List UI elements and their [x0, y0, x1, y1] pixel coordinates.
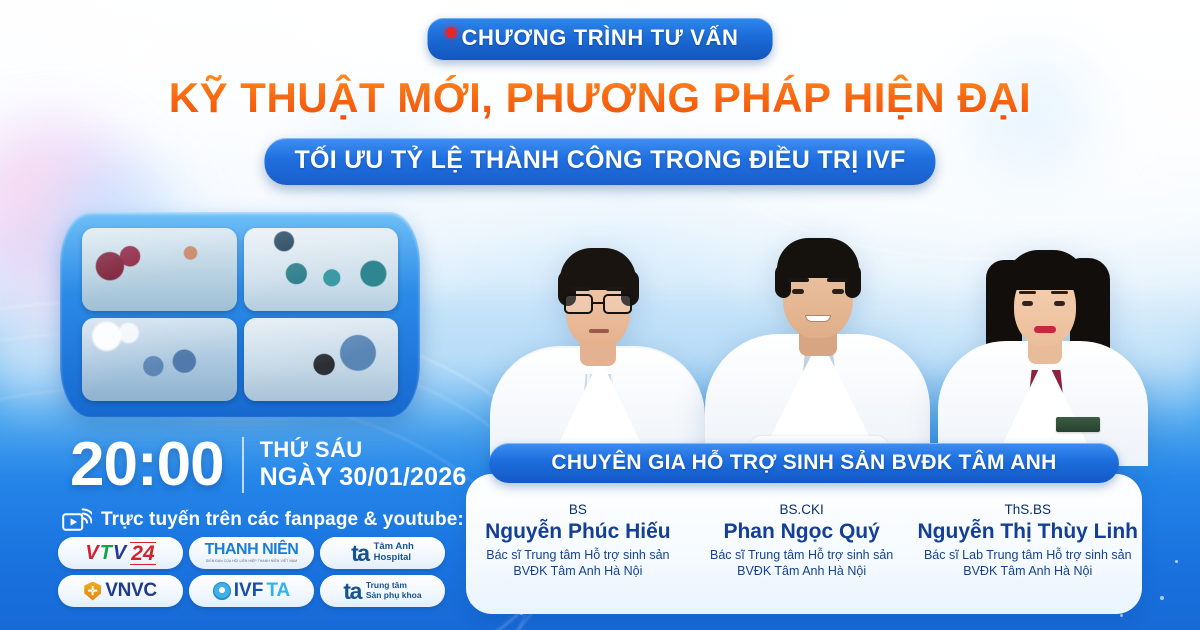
eyebrow-left: [787, 278, 809, 282]
page-title: KỸ THUẬT MỚI, PHƯƠNG PHÁP HIỆN ĐẠI: [0, 74, 1200, 122]
doctors-photo-group: [470, 196, 1170, 466]
expert-role-line1: Bác sĩ Lab Trung tâm Hỗ trợ sinh sản: [918, 547, 1138, 563]
ivfta-logo-mark: IVF TA: [213, 580, 290, 602]
thanh-nien-title: THANH NIÊN: [205, 542, 299, 558]
vtv24-number: 24: [130, 542, 155, 565]
glasses-bridge: [593, 302, 603, 304]
doctor-photo-phan-ngoc-quy: [705, 181, 930, 466]
vnvc-logo-mark: ✛ VNVC: [84, 580, 157, 602]
vtv24-v1: V: [85, 543, 98, 563]
vtv24-v2: V: [113, 543, 126, 563]
hair-top: [1006, 250, 1086, 290]
mouth: [589, 329, 609, 333]
tam-anh-logo-mark: ta Tâm Anh Hospital: [351, 542, 414, 565]
ivfta-ivf: IVF: [234, 580, 264, 602]
lens-left: [564, 294, 593, 314]
doctor-photo-nguyen-phuc-hieu: [490, 201, 705, 466]
expert-role-line2: BVĐK Tâm Anh Hà Nội: [694, 563, 910, 579]
ta-obgyn-wordmark: Trung tâm Sản phụ khoa: [366, 581, 422, 601]
expert-role-line1: Bác sĩ Trung tâm Hỗ trợ sinh sản: [694, 547, 910, 563]
collage-photo-lab-microscope: [244, 318, 399, 401]
eyebrow-right: [1051, 291, 1068, 295]
thanh-nien-tagline: DIỄN ĐÀN CỦA HỘI LIÊN HIỆP THANH NIÊN VI…: [205, 560, 299, 563]
ivfta-logo[interactable]: IVF TA: [189, 575, 314, 607]
broadcast-time-block: 20:00 THỨ SÁU NGÀY 30/01/2026: [70, 434, 466, 496]
broadcast-weekday: THỨ SÁU: [260, 437, 467, 463]
thanh-nien-logo-mark: THANH NIÊN DIỄN ĐÀN CỦA HỘI LIÊN HIỆP TH…: [205, 542, 299, 563]
eyebrow-left: [570, 287, 590, 291]
collage-photo-operating-room: [244, 228, 399, 311]
live-channels-label: Trực tuyến trên các fanpage & youtube:: [101, 509, 464, 531]
expert-title: BS.CKI: [694, 502, 910, 518]
live-red-dot-icon: [446, 27, 457, 38]
expert-title: ThS.BS: [918, 502, 1138, 518]
live-channels-row: Trực tuyến trên các fanpage & youtube:: [62, 508, 464, 532]
expert-role-line1: Bác sĩ Trung tâm Hỗ trợ sinh sản: [470, 547, 686, 563]
shield-cross-icon: ✛: [84, 582, 101, 601]
tam-anh-obgyn-logo[interactable]: ta Trung tâm Sản phụ khoa: [320, 575, 445, 607]
vtv24-logo-mark: V T V 24: [85, 542, 155, 565]
ta-monogram: ta: [343, 580, 360, 603]
eyebrow-left: [1019, 291, 1036, 295]
expert-name: Nguyễn Phúc Hiếu: [470, 518, 686, 546]
subtitle-label: TỐI ƯU TỶ LỆ THÀNH CÔNG TRONG ĐIỀU TRỊ I…: [294, 146, 905, 174]
ta-line2: Hospital: [374, 553, 414, 564]
experts-heading-label: CHUYÊN GIA HỖ TRỢ SINH SẢN BVĐK TÂM ANH: [551, 451, 1056, 475]
expert-role-line2: BVĐK Tâm Anh Hà Nội: [470, 563, 686, 579]
cross-glyph: ✛: [88, 585, 98, 597]
collage-photo-endoscopy: [82, 228, 237, 311]
experts-list: BS Nguyễn Phúc Hiếu Bác sĩ Trung tâm Hỗ …: [466, 502, 1142, 579]
thanh-nien-logo[interactable]: THANH NIÊN DIỄN ĐÀN CỦA HỘI LIÊN HIỆP TH…: [189, 537, 314, 569]
eyebrow-right: [606, 287, 626, 291]
eye-left: [792, 289, 804, 294]
eye-right: [1054, 301, 1065, 306]
expert-name: Nguyễn Thị Thùy Linh: [918, 518, 1138, 546]
expert-card: BS.CKI Phan Ngọc Quý Bác sĩ Trung tâm Hỗ…: [690, 502, 914, 579]
time-divider: [242, 437, 244, 493]
vnvc-logo[interactable]: ✛ VNVC: [58, 575, 183, 607]
live-broadcast-icon: [62, 508, 92, 532]
eye-right: [832, 289, 844, 294]
program-type-label: CHƯƠNG TRÌNH TƯ VẤN: [462, 25, 739, 50]
name-tag: [1056, 417, 1100, 432]
broadcast-date-block: THỨ SÁU NGÀY 30/01/2026: [260, 437, 467, 492]
vnvc-wordmark: VNVC: [105, 580, 157, 602]
sparkle-dot: [1120, 614, 1123, 617]
broadcast-time: 20:00: [70, 434, 224, 496]
collage-grid: [82, 228, 398, 401]
eyeglasses-icon: [564, 294, 632, 314]
expert-role-line2: BVĐK Tâm Anh Hà Nội: [918, 563, 1138, 579]
experts-heading-bar: CHUYÊN GIA HỖ TRỢ SINH SẢN BVĐK TÂM ANH: [489, 443, 1119, 483]
mother-baby-ring-icon: [213, 582, 231, 600]
vtv24-logo[interactable]: V T V 24: [58, 537, 183, 569]
photo-sheen: [82, 228, 237, 311]
program-type-badge: CHƯƠNG TRÌNH TƯ VẤN: [428, 18, 773, 60]
photo-collage: [60, 212, 420, 417]
photo-sheen: [82, 318, 237, 401]
lens-right: [603, 294, 632, 314]
ta-obgyn-line2: Sản phụ khoa: [366, 591, 422, 601]
expert-name: Phan Ngọc Quý: [694, 518, 910, 546]
sparkle-dot: [1160, 596, 1164, 600]
broadcast-date: NGÀY 30/01/2026: [260, 463, 467, 493]
doctor-photo-nguyen-thi-thuy-linh: [930, 188, 1155, 466]
expert-card: ThS.BS Nguyễn Thị Thùy Linh Bác sĩ Lab T…: [914, 502, 1142, 579]
smiling-mouth: [805, 315, 831, 322]
expert-card: BS Nguyễn Phúc Hiếu Bác sĩ Trung tâm Hỗ …: [466, 502, 690, 579]
ivfta-ta: TA: [266, 580, 290, 602]
sparkle-dot: [1175, 560, 1178, 563]
eye-left: [1022, 301, 1033, 306]
collage-photo-surgery-team: [82, 318, 237, 401]
ta-monogram: ta: [351, 542, 368, 565]
subtitle-badge: TỐI ƯU TỶ LỆ THÀNH CÔNG TRONG ĐIỀU TRỊ I…: [264, 138, 935, 185]
expert-title: BS: [470, 502, 686, 518]
banner-stage: CHƯƠNG TRÌNH TƯ VẤN KỸ THUẬT MỚI, PHƯƠNG…: [0, 0, 1200, 630]
tam-anh-obgyn-logo-mark: ta Trung tâm Sản phụ khoa: [343, 580, 421, 603]
tam-anh-hospital-logo[interactable]: ta Tâm Anh Hospital: [320, 537, 445, 569]
eyebrow-right: [827, 278, 849, 282]
lips: [1034, 326, 1056, 333]
photo-sheen: [244, 228, 399, 311]
partner-logos: V T V 24 THANH NIÊN DIỄN ĐÀN CỦA HỘI LIÊ…: [58, 537, 445, 607]
photo-sheen: [244, 318, 399, 401]
vtv24-t: T: [100, 543, 112, 563]
ta-wordmark: Tâm Anh Hospital: [374, 542, 414, 564]
